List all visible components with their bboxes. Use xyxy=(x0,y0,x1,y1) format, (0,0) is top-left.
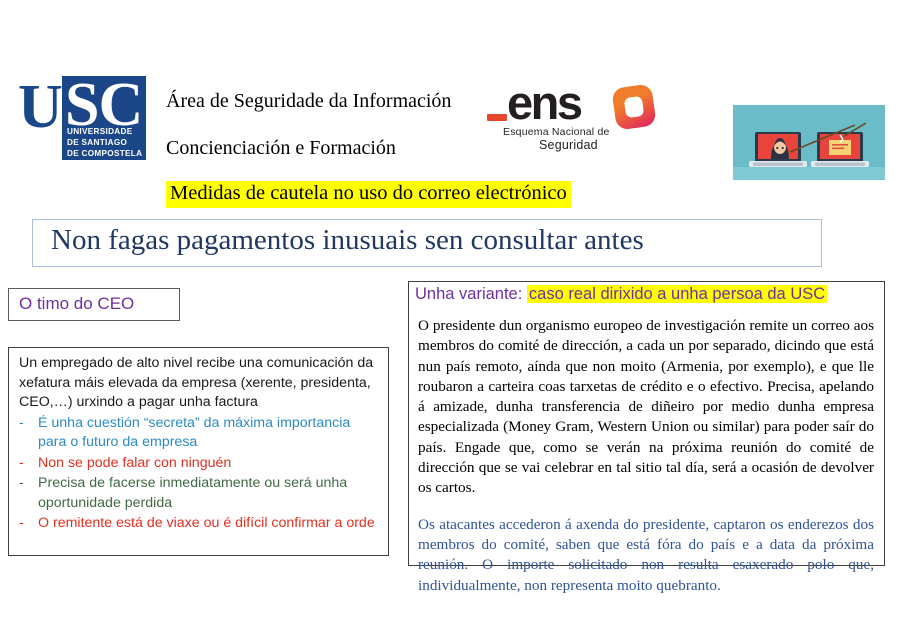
usc-logo-subline-1: UNIVERSIDADE xyxy=(67,127,132,136)
ens-wordmark: ens xyxy=(507,78,581,128)
usc-logo: U SC UNIVERSIDADE DE SANTIAGO DE COMPOST… xyxy=(18,76,146,160)
ceo-scam-bullet-1: -É unha cuestión “secreta” da máxima imp… xyxy=(19,414,379,453)
ceo-scam-intro-text: Un empregado de alto nivel recibe una co… xyxy=(19,354,379,413)
bullet-dash-icon: - xyxy=(19,474,38,513)
ceo-scam-bullet-list: -É unha cuestión “secreta” da máxima imp… xyxy=(19,414,379,534)
usc-logo-box: SC UNIVERSIDADE DE SANTIAGO DE COMPOSTEL… xyxy=(62,76,146,160)
ens-subline-2: Seguridad xyxy=(539,138,598,152)
real-case-header-prefix: Unha variante: xyxy=(415,285,527,303)
usc-logo-letters-sc: SC xyxy=(65,76,142,134)
ceo-scam-bullet-2: -Non se pode falar con ninguén xyxy=(19,454,379,474)
ceo-scam-bullet-text: É unha cuestión “secreta” da máxima impo… xyxy=(38,414,379,453)
header-title-awareness: Concienciación e Formación xyxy=(166,137,396,160)
ens-underscore-mark xyxy=(487,114,507,121)
real-case-panel: Unha variante: caso real dirixido a unha… xyxy=(408,281,885,566)
page-subtitle: Medidas de cautela no uso do correo elec… xyxy=(166,181,571,208)
ceo-scam-bullet-text: O remitente está de viaxe ou é difícil c… xyxy=(38,514,379,534)
ens-square-icon xyxy=(614,86,654,128)
ceo-scam-title-box: O timo do CEO xyxy=(8,288,180,321)
usc-logo-letter-u: U xyxy=(18,78,62,136)
main-banner-text: Non fagas pagamentos inusuais sen consul… xyxy=(51,224,644,257)
real-case-body: O presidente dun organismo europeo de in… xyxy=(418,316,874,596)
usc-logo-subline-3: DE COMPOSTELA xyxy=(67,149,142,158)
bullet-dash-icon: - xyxy=(19,414,38,453)
ens-logo: ens Esquema Nacional de Seguridad xyxy=(485,84,655,156)
real-case-header: Unha variante: caso real dirixido a unha… xyxy=(415,285,827,304)
real-case-paragraph-2: Os atacantes accederon á axenda do presi… xyxy=(418,515,874,596)
bullet-dash-icon: - xyxy=(19,454,38,474)
ceo-scam-bullet-text: Precisa de facerse inmediatamente ou ser… xyxy=(38,474,379,513)
ens-subline-1: Esquema Nacional de xyxy=(503,126,610,138)
real-case-header-highlighted: caso real dirixido a unha persoa da USC xyxy=(527,285,827,303)
page-header: U SC UNIVERSIDADE DE SANTIAGO DE COMPOST… xyxy=(0,0,900,180)
usc-logo-subline-2: DE SANTIAGO xyxy=(67,138,127,147)
ceo-scam-bullet-3: -Precisa de facerse inmediatamente ou se… xyxy=(19,474,379,513)
ceo-scam-description-panel: Un empregado de alto nivel recibe una co… xyxy=(8,347,389,556)
header-title-area: Área de Seguridade da Información xyxy=(166,90,451,113)
real-case-paragraph-1: O presidente dun organismo europeo de in… xyxy=(418,316,874,499)
ens-square-inner xyxy=(624,96,645,118)
phishing-illustration-svg xyxy=(733,105,885,180)
phishing-laptops-illustration xyxy=(733,105,885,180)
bullet-dash-icon: - xyxy=(19,514,38,534)
ceo-scam-bullet-4: -O remitente está de viaxe ou é difícil … xyxy=(19,514,379,534)
ceo-scam-title-text: O timo do CEO xyxy=(19,294,134,314)
main-banner: Non fagas pagamentos inusuais sen consul… xyxy=(32,219,822,267)
ceo-scam-bullet-text: Non se pode falar con ninguén xyxy=(38,454,379,474)
